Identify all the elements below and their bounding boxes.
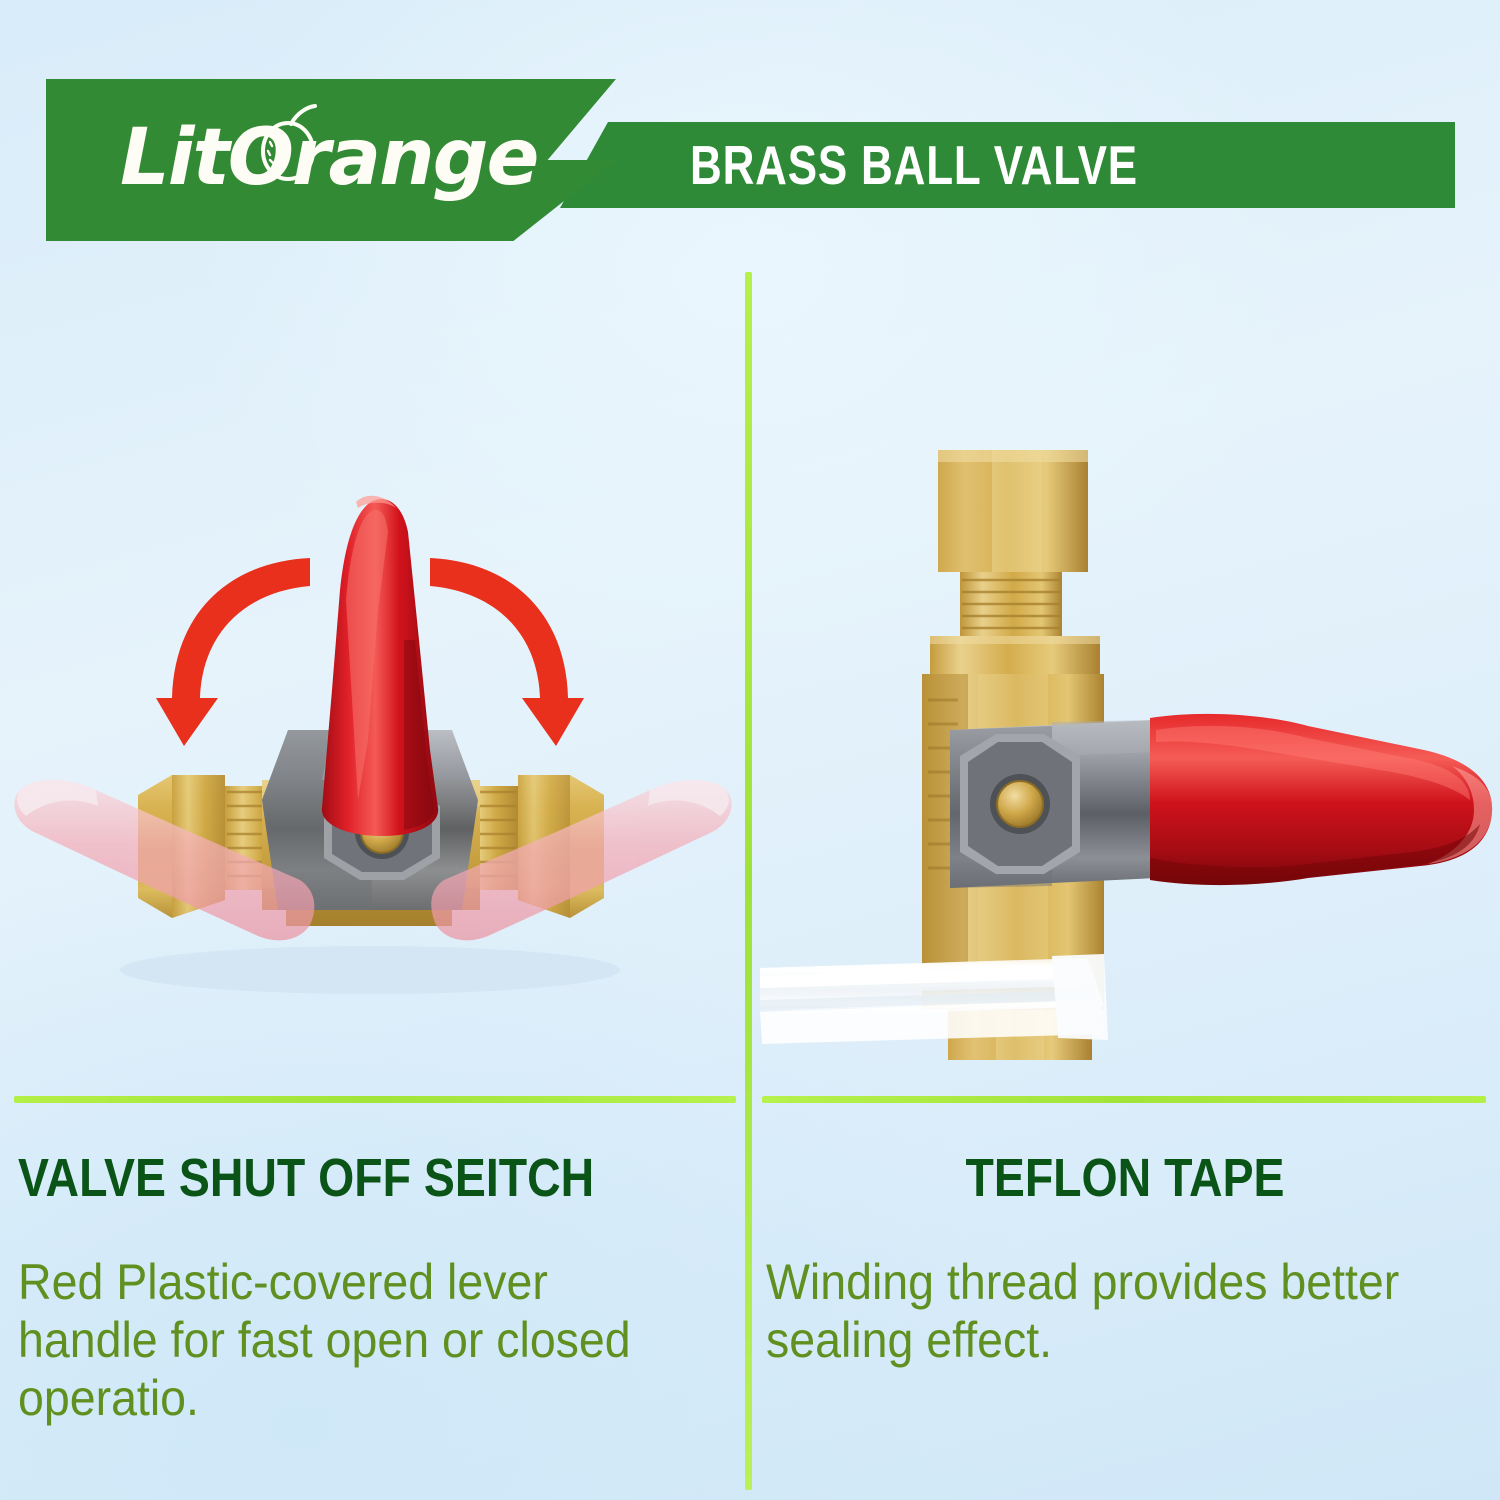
brass-ball-valve-with-teflon-tape-photo <box>752 400 1500 1060</box>
rotation-arrow-left-icon <box>156 558 310 746</box>
horizontal-divider-left <box>14 1096 736 1103</box>
caption-block-left: VALVE SHUT OFF SEITCH Red Plastic-covere… <box>18 1150 736 1427</box>
brass-ball-valve-rotating-handle-photo <box>0 440 740 1060</box>
page-title: BRASS BALL VALVE <box>690 122 1282 208</box>
product-infographic-page: BRASS BALL VALVE LitOrange <box>0 0 1500 1500</box>
vertical-divider <box>745 272 752 1490</box>
valve-neck-thread <box>930 572 1100 674</box>
caption-heading-left: VALVE SHUT OFF SEITCH <box>18 1150 635 1207</box>
caption-block-right: TEFLON TAPE Winding thread provides bett… <box>766 1150 1484 1369</box>
rotation-arrow-right-icon <box>430 558 584 746</box>
valve-lever-handle <box>322 496 438 836</box>
caption-heading-right: TEFLON TAPE <box>816 1150 1433 1207</box>
valve-pivot-nut <box>960 734 1080 874</box>
caption-body-right: Winding thread provides better sealing e… <box>766 1253 1434 1369</box>
valve-top-compression-nut <box>938 450 1088 572</box>
teflon-tape-strip <box>760 954 1108 1044</box>
brand-logo: LitOrange <box>120 98 537 218</box>
caption-body-left: Red Plastic-covered lever handle for fas… <box>18 1253 686 1427</box>
brand-logo-text: LitOrange <box>120 119 537 197</box>
horizontal-divider-right <box>762 1096 1486 1103</box>
valve-lever-handle <box>1150 714 1492 885</box>
